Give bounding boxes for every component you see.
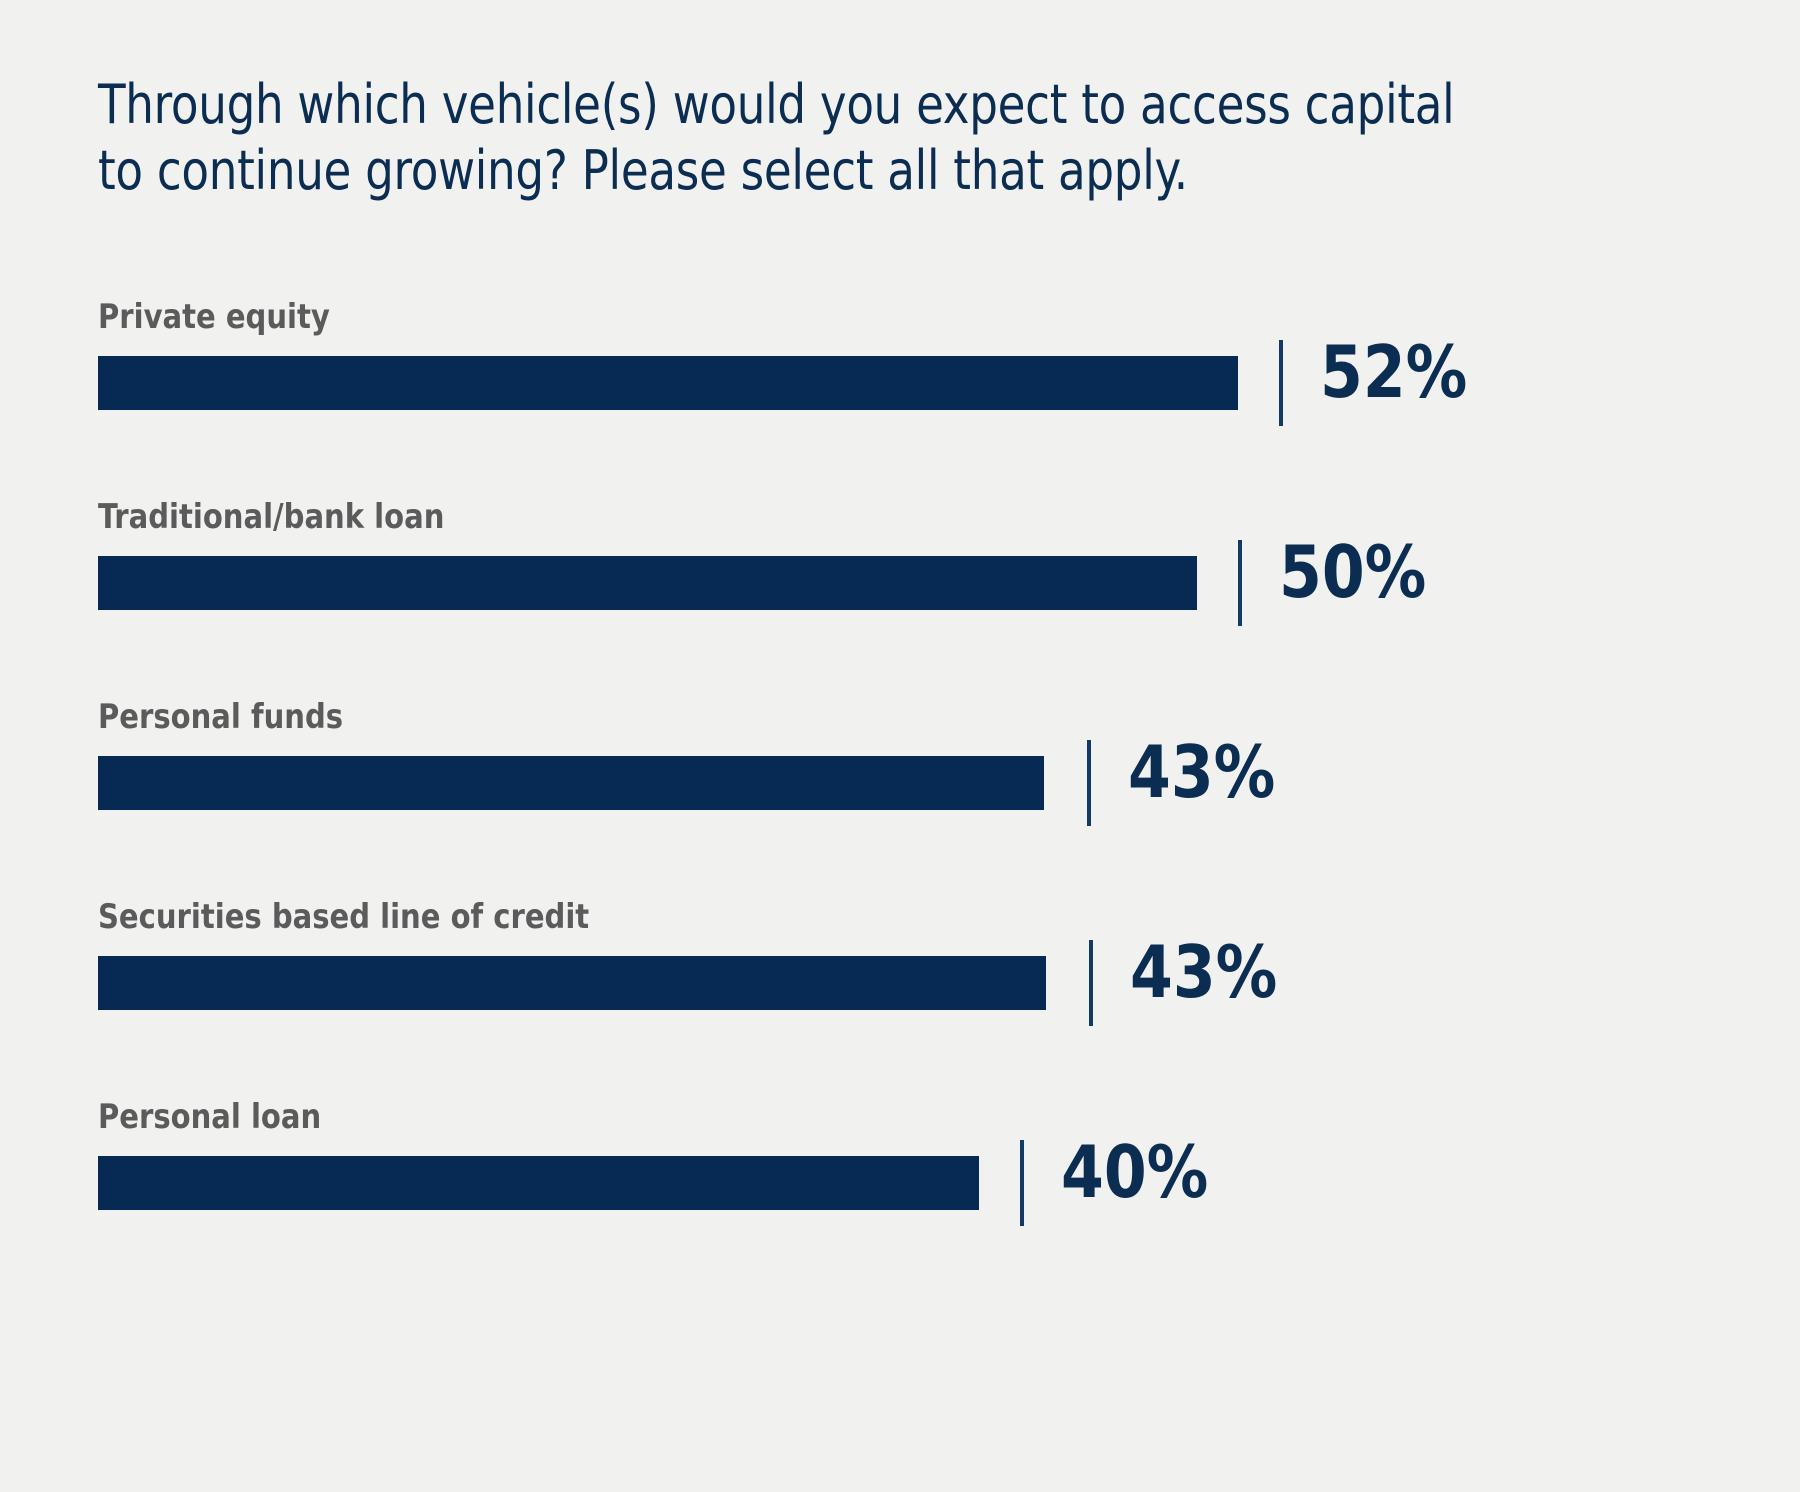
page-title: Through which vehicle(s) would you expec… bbox=[98, 72, 1605, 204]
table-row: Personal loan 40% bbox=[98, 1100, 1738, 1290]
bar-area: 40% bbox=[98, 1156, 1738, 1210]
bar-value-label: 43% bbox=[1128, 736, 1275, 808]
chart-figure: Through which vehicle(s) would you expec… bbox=[0, 0, 1800, 1492]
table-row: Personal funds 43% bbox=[98, 700, 1738, 900]
table-row: Private equity 52% bbox=[98, 300, 1738, 500]
bar-category-label: Securities based line of credit bbox=[98, 900, 589, 934]
bar-area: 50% bbox=[98, 556, 1738, 610]
bar-track: 50% bbox=[98, 556, 1738, 610]
table-row: Securities based line of credit 43% bbox=[98, 900, 1738, 1100]
value-divider-rule bbox=[1089, 940, 1093, 1026]
bar-fill bbox=[98, 1156, 979, 1210]
table-row: Traditional/bank loan 50% bbox=[98, 500, 1738, 700]
chart-title-block: Through which vehicle(s) would you expec… bbox=[98, 72, 1718, 204]
bar-value-label: 50% bbox=[1279, 536, 1426, 608]
bar-track: 40% bbox=[98, 1156, 1738, 1210]
bar-fill bbox=[98, 356, 1238, 410]
bar-fill bbox=[98, 756, 1044, 810]
bar-track: 52% bbox=[98, 356, 1738, 410]
bar-value-label: 43% bbox=[1130, 936, 1277, 1008]
bar-track: 43% bbox=[98, 756, 1738, 810]
bar-fill bbox=[98, 556, 1197, 610]
value-divider-rule bbox=[1020, 1140, 1024, 1226]
bar-value-label: 52% bbox=[1320, 336, 1467, 408]
bar-category-label: Personal loan bbox=[98, 1100, 321, 1134]
bar-value-label: 40% bbox=[1061, 1136, 1208, 1208]
bar-area: 43% bbox=[98, 956, 1738, 1010]
value-divider-rule bbox=[1238, 540, 1242, 626]
bar-area: 43% bbox=[98, 756, 1738, 810]
value-divider-rule bbox=[1087, 740, 1091, 826]
bar-rows-container: Private equity 52% Traditional/bank loan… bbox=[98, 300, 1738, 1290]
bar-fill bbox=[98, 956, 1046, 1010]
bar-track: 43% bbox=[98, 956, 1738, 1010]
value-divider-rule bbox=[1279, 340, 1283, 426]
bar-area: 52% bbox=[98, 356, 1738, 410]
bar-category-label: Personal funds bbox=[98, 700, 343, 734]
bar-category-label: Private equity bbox=[98, 300, 330, 334]
bar-category-label: Traditional/bank loan bbox=[98, 500, 444, 534]
